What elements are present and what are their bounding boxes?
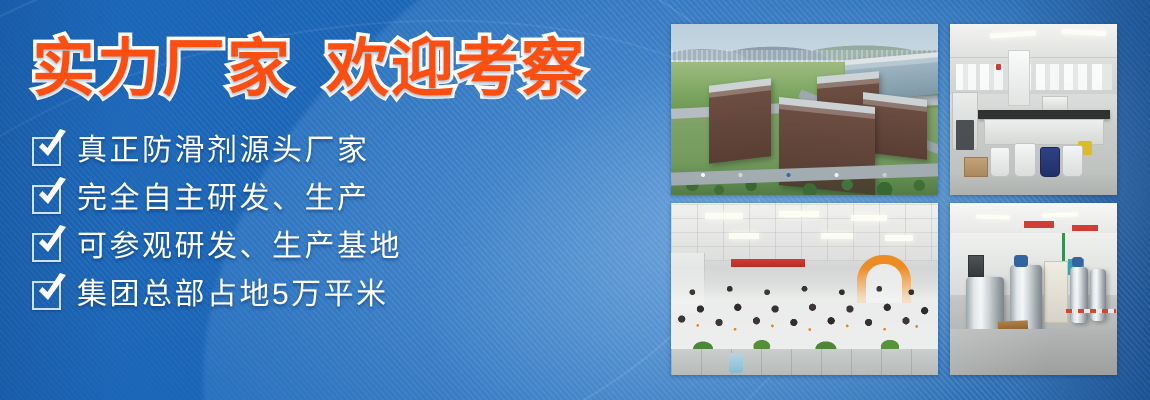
checkbox-checked-icon <box>32 137 61 166</box>
checkmark-icon <box>35 273 69 307</box>
office-ceiling-light <box>779 211 819 217</box>
office-ceiling-light <box>885 235 913 241</box>
office-ceiling-light <box>851 215 887 221</box>
lab-chemical-drum <box>1014 143 1036 177</box>
company-strength-banner: 实力厂家 欢迎考察 真正防滑剂源头厂家 完全自主研发、生产 <box>0 0 1150 400</box>
office-ceiling-light <box>821 233 853 239</box>
campus-cars <box>671 171 938 179</box>
lab-cardboard-box <box>964 157 988 177</box>
headline-part-1: 实力厂家 <box>32 38 292 101</box>
list-item: 可参观研发、生产基地 <box>32 223 660 271</box>
plant-steel-tank <box>1090 269 1106 321</box>
plant-red-sign <box>1024 221 1054 228</box>
photo-office-campus <box>671 24 938 195</box>
list-item-label: 集团总部占地5万平米 <box>77 280 389 310</box>
plant-floor-sheen <box>950 329 1117 375</box>
plant-red-sign <box>1072 225 1098 231</box>
page-title: 实力厂家 欢迎考察 <box>32 38 660 101</box>
list-item: 完全自主研发、生产 <box>32 175 660 223</box>
lab-fume-hood <box>1008 50 1030 106</box>
plant-control-panel <box>968 255 984 277</box>
headline-part-2: 欢迎考察 <box>326 38 586 101</box>
checkbox-checked-icon <box>32 185 61 214</box>
office-desks <box>671 349 938 375</box>
office-water-jug <box>729 353 743 373</box>
office-red-banner <box>731 259 805 267</box>
lab-floor <box>950 175 1117 195</box>
checkmark-icon <box>35 177 69 211</box>
plant-motor <box>1072 257 1083 267</box>
lab-cabinet-panel <box>956 120 974 150</box>
lab-chemical-drum <box>1062 145 1083 177</box>
checkmark-icon <box>35 129 69 163</box>
photo-production-tanks <box>950 203 1117 375</box>
campus-building-a <box>709 78 771 164</box>
list-item: 真正防滑剂源头厂家 <box>32 127 660 175</box>
lab-chemical-drum <box>990 147 1010 177</box>
office-ceiling-light <box>729 233 759 239</box>
checkbox-checked-icon <box>32 233 61 262</box>
feature-list: 真正防滑剂源头厂家 完全自主研发、生产 可参观研发、生产基地 <box>32 127 660 319</box>
plant-steel-tank <box>1070 267 1088 323</box>
photo-grid <box>671 24 1117 375</box>
plant-safety-barrier <box>1066 309 1116 313</box>
list-item-label: 可参观研发、生产基地 <box>77 232 402 262</box>
list-item: 集团总部占地5万平米 <box>32 271 660 319</box>
plant-mixer-cabinet <box>1044 261 1068 323</box>
photo-laboratory <box>950 24 1117 195</box>
checkbox-checked-icon <box>32 281 61 310</box>
lab-glassware-shelf <box>956 64 1112 90</box>
office-ceiling-light <box>705 213 743 219</box>
text-column: 实力厂家 欢迎考察 真正防滑剂源头厂家 完全自主研发、生产 <box>0 0 660 400</box>
lab-ceiling <box>950 24 1117 58</box>
list-item-label: 完全自主研发、生产 <box>77 184 370 214</box>
lab-red-bottle-cap <box>996 64 1001 70</box>
lab-chemical-drum-blue <box>1040 147 1060 177</box>
lab-bench-top <box>978 110 1110 119</box>
checkmark-icon <box>35 225 69 259</box>
list-item-label: 真正防滑剂源头厂家 <box>77 136 370 166</box>
plant-motor <box>1014 255 1028 267</box>
photo-staff-group <box>671 203 938 375</box>
